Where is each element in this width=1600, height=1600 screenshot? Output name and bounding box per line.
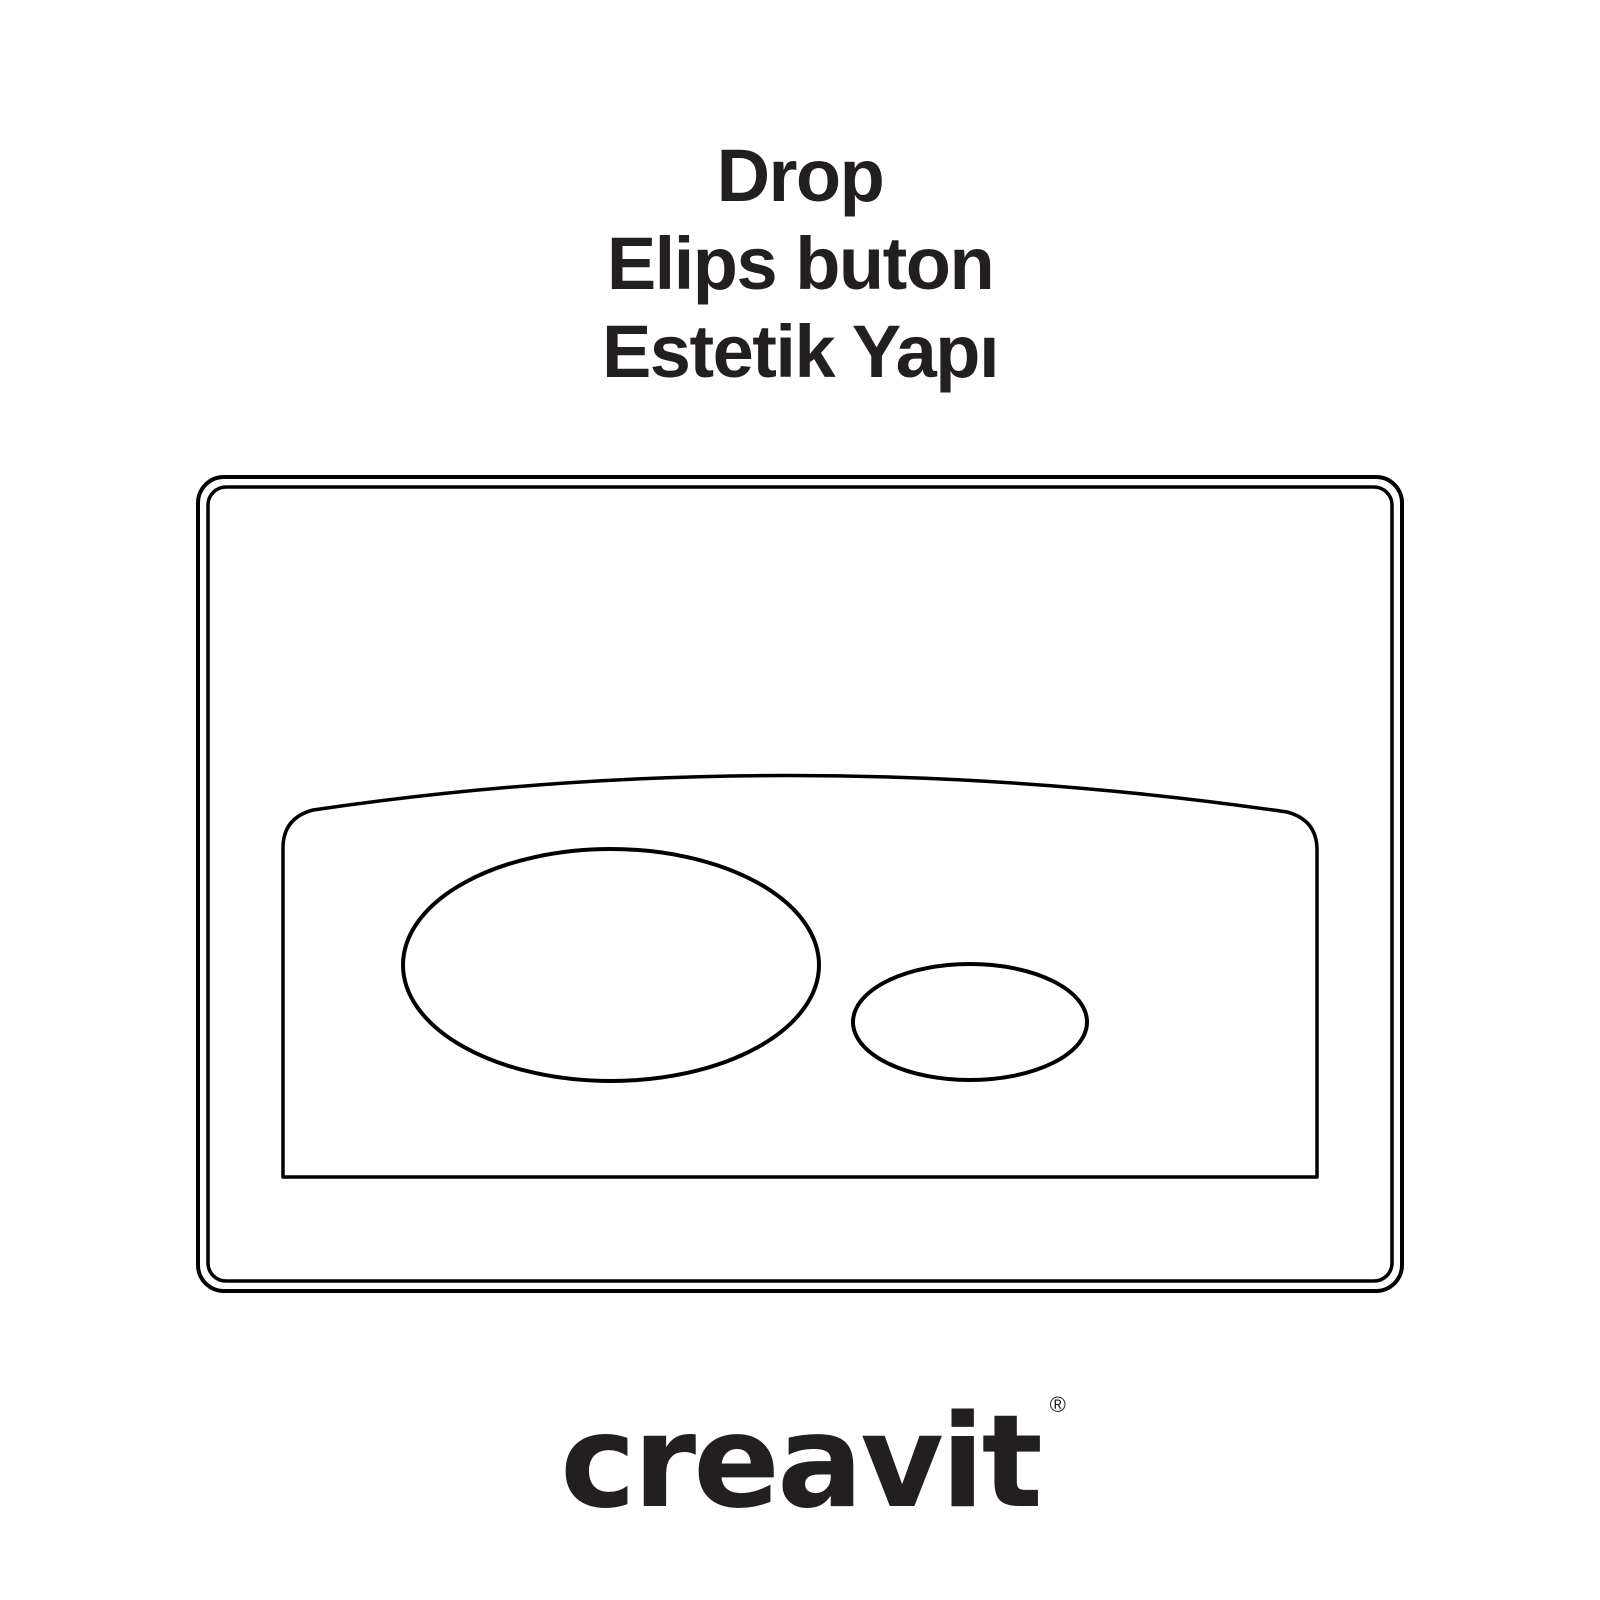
outer-plate-outline <box>198 477 1402 1291</box>
brand-logo: creavit ® <box>0 1388 1600 1538</box>
brand-wordmark: creavit <box>560 1388 1040 1538</box>
full-flush-elliptical-button[interactable] <box>403 849 819 1081</box>
title-line-1: Drop <box>0 132 1600 220</box>
half-flush-elliptical-button[interactable] <box>853 964 1087 1080</box>
title-line-2: Elips buton <box>0 220 1600 308</box>
brand-logo-inner: creavit ® <box>560 1388 1040 1538</box>
page-title: Drop Elips buton Estetik Yapı <box>0 132 1600 396</box>
arched-button-panel <box>283 775 1317 1177</box>
outer-plate-inner-outline <box>208 487 1392 1281</box>
registered-trademark-icon: ® <box>1050 1394 1066 1416</box>
title-line-3: Estetik Yapı <box>0 308 1600 396</box>
